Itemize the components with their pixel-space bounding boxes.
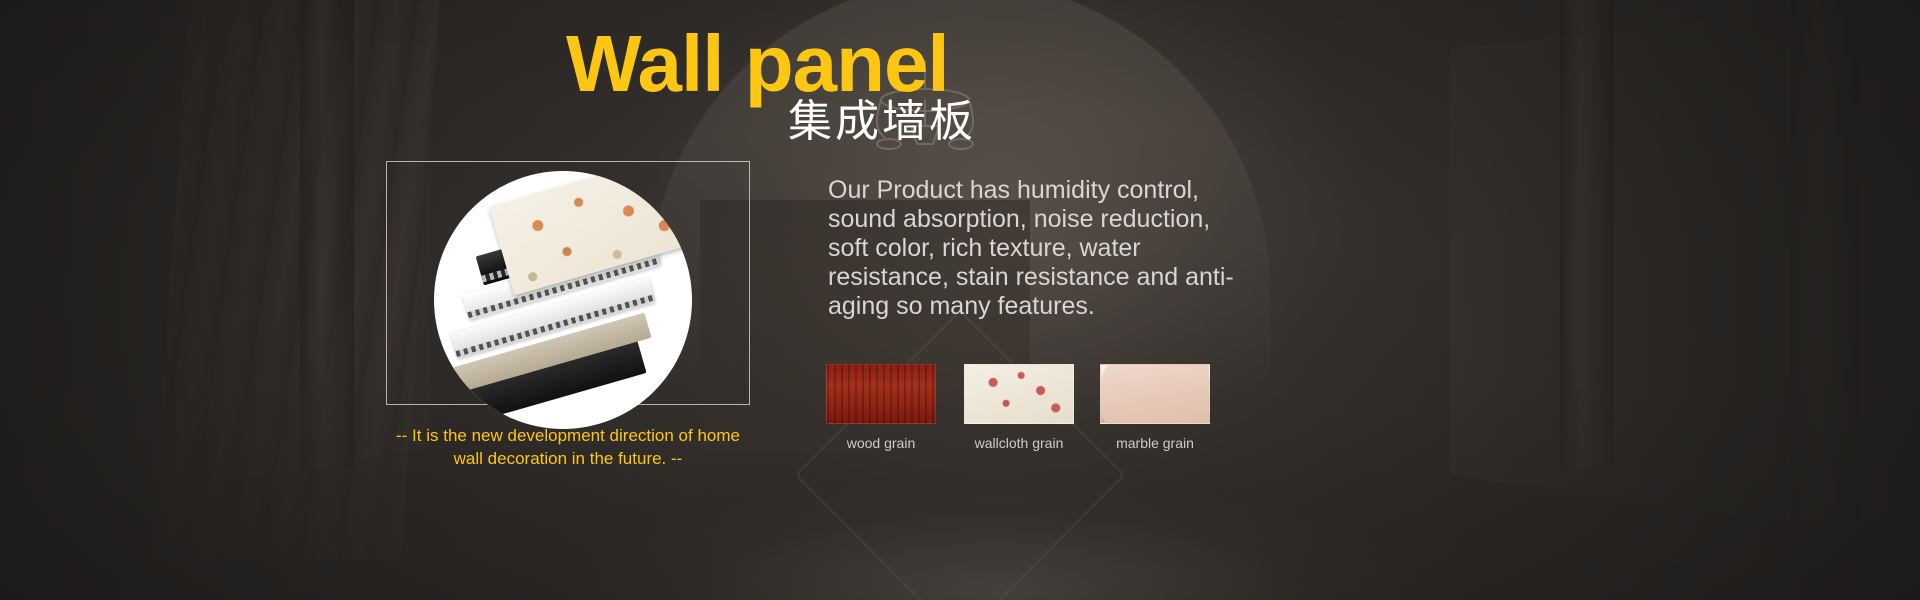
material-swatch-list: wood grain wallcloth grain marble grain (826, 364, 1246, 460)
swatch-label: marble grain (1100, 435, 1210, 451)
banner-subtitle-chinese: 集成墙板 (788, 100, 976, 144)
swatch-label: wallcloth grain (964, 435, 1074, 451)
wallcloth-grain-swatch-icon (964, 364, 1074, 424)
product-photo (434, 171, 692, 429)
banner-content: Wall panel 集成墙板 Our Product has humidity… (0, 0, 1920, 600)
banner-title: Wall panel (566, 24, 949, 104)
swatch-wood-grain[interactable]: wood grain (826, 364, 936, 451)
panel-stack (434, 171, 692, 429)
wood-grain-swatch-icon (826, 364, 936, 424)
wall-panel-promo-banner: Wall panel 集成墙板 Our Product has humidity… (0, 0, 1920, 600)
swatch-marble-grain[interactable]: marble grain (1100, 364, 1210, 451)
marble-grain-swatch-icon (1100, 364, 1210, 424)
banner-tagline: -- It is the new development direction o… (388, 424, 748, 470)
swatch-label: wood grain (826, 435, 936, 451)
swatch-wallcloth-grain[interactable]: wallcloth grain (964, 364, 1074, 451)
product-description: Our Product has humidity control, sound … (828, 176, 1248, 321)
